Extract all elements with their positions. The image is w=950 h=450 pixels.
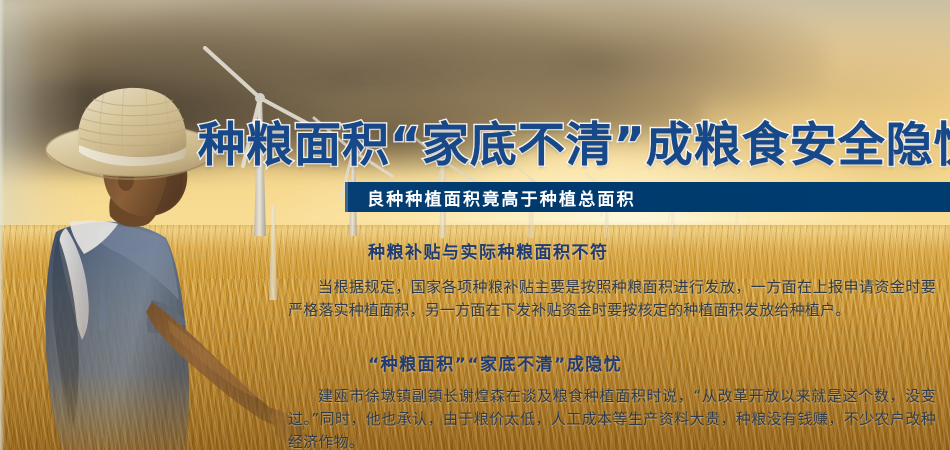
subtitle-text: 良种种植面积竟高于种植总面积 (367, 185, 636, 210)
news-banner: 种粮面积“家底不清”成粮食安全隐忧 种粮面积“家底不清”成粮食安全隐忧 良种种植… (0, 0, 950, 450)
section-heading-2: “种粮面积”“家底不清”成隐忧 (368, 350, 622, 375)
farmer-figure (0, 0, 340, 450)
page-title-outline: 种粮面积“家底不清”成粮食安全隐忧 (198, 117, 950, 175)
section-paragraph-2: 建瓯市徐墩镇副镇长谢煌森在谈及粮食种植面积时说，“从改革开放以来就是这个数，没变… (288, 385, 936, 450)
section-heading-1: 种粮补贴与实际种粮面积不符 (368, 238, 609, 263)
left-edge-highlight (0, 0, 5, 450)
section-paragraph-1: 当根据规定，国家各项种粮补贴主要是按照种粮面积进行发放，一方面在上报申请资金时要… (288, 276, 936, 322)
subtitle-bar: 良种种植面积竟高于种植总面积 (345, 182, 950, 212)
